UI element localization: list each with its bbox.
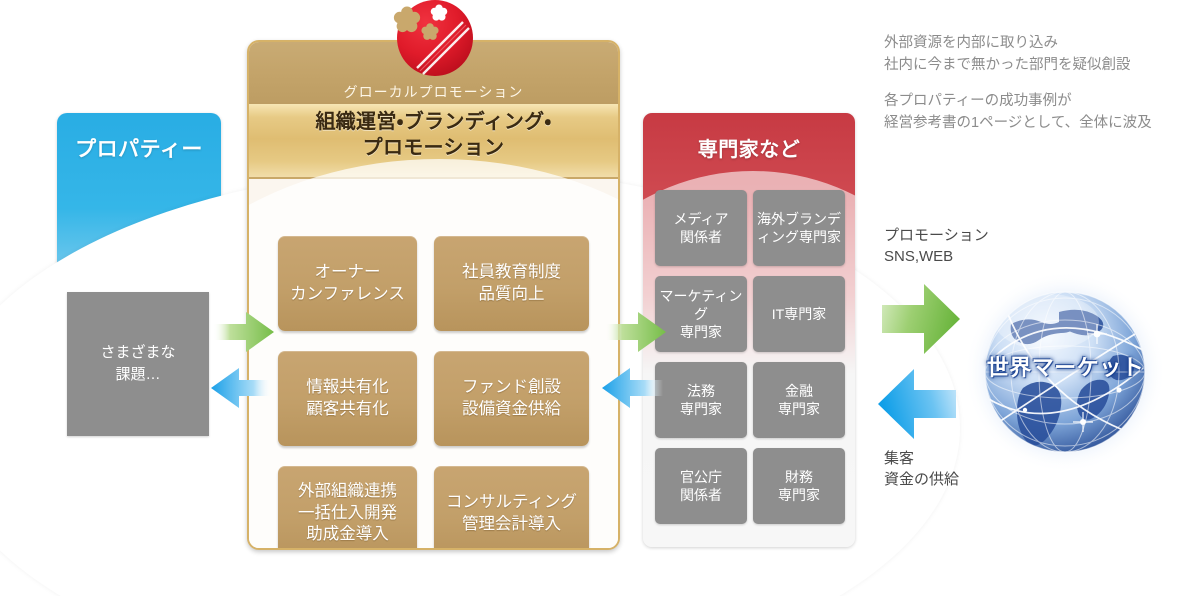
expert-box: IT専門家: [753, 276, 845, 352]
expert-line1: 財務: [778, 468, 820, 486]
expert-line2: 専門家: [657, 323, 745, 341]
expert-box: 官公庁 関係者: [655, 448, 747, 524]
initiative-line2: カンファレンス: [290, 284, 405, 306]
blue-left-arrow-center: [601, 366, 663, 410]
green-right-arrow-market: [880, 281, 962, 357]
expert-line1: 官公庁: [680, 468, 722, 486]
initiative-box: コンサルティング 管理会計導入: [434, 466, 589, 550]
initiative-line2: 一括仕入開発: [298, 503, 397, 525]
initiative-line1: 情報共有化: [306, 377, 389, 399]
expert-line2: 関係者: [680, 486, 722, 504]
annotation-top-line1: 外部資源を内部に取り込み: [884, 32, 1131, 54]
annotation-promotion-line2: SNS,WEB: [884, 246, 989, 267]
expert-box: 海外ブランデ ィング専門家: [753, 190, 845, 266]
experts-grid: メディア 関係者 海外ブランデ ィング専門家 マーケティング 専門家 IT専門家…: [655, 190, 845, 524]
center-panel-eyebrow: グローカルプロモーション: [249, 82, 618, 102]
initiative-line3: 助成金導入: [298, 524, 397, 546]
green-right-arrow-left: [213, 310, 275, 354]
center-panel-body: オーナー カンファレンス 社員教育制度 品質向上 情報共有化 顧客共有化 ファン…: [249, 179, 618, 548]
expert-line2: 専門家: [778, 400, 820, 418]
initiative-line1: オーナー: [290, 262, 405, 284]
initiative-line2: 管理会計導入: [446, 514, 577, 536]
initiative-line1: 外部組織連携: [298, 481, 397, 503]
annotation-second-line2: 経営参考書の1ページとして、全体に波及: [884, 112, 1152, 134]
expert-line2: 専門家: [778, 486, 820, 504]
expert-line2: 専門家: [680, 400, 722, 418]
expert-line2: ィング専門家: [757, 228, 841, 246]
initiative-line1: ファンド創設: [462, 377, 561, 399]
annotation-second-line1: 各プロパティーの成功事例が: [884, 90, 1152, 112]
expert-box: 法務 専門家: [655, 362, 747, 438]
annotation-top: 外部資源を内部に取り込み 社内に今まで無かった部門を疑似創設: [884, 32, 1131, 77]
various-issues-box: さまざまな 課題…: [67, 292, 209, 436]
initiative-box: 外部組織連携 一括仕入開発 助成金導入: [278, 466, 417, 550]
world-market-label: 世界マーケット: [963, 350, 1168, 382]
annotation-promotion: プロモーション SNS,WEB: [884, 225, 989, 268]
expert-box: 金融 専門家: [753, 362, 845, 438]
world-market-globe: 世界マーケット: [963, 272, 1168, 477]
expert-line1: 海外ブランデ: [757, 210, 841, 228]
initiative-box: オーナー カンファレンス: [278, 236, 417, 331]
annotation-inflow-line1: 集客: [884, 448, 959, 469]
various-issues-line2: 課題…: [100, 364, 175, 386]
annotation-second: 各プロパティーの成功事例が 経営参考書の1ページとして、全体に波及: [884, 90, 1152, 135]
initiative-line2: 品質向上: [462, 284, 561, 306]
initiative-line1: コンサルティング: [446, 492, 577, 514]
expert-line1: メディア: [673, 210, 728, 228]
expert-line1: 金融: [778, 382, 820, 400]
expert-line1: 法務: [680, 382, 722, 400]
initiative-line2: 顧客共有化: [306, 399, 389, 421]
annotation-inflow: 集客 資金の供給: [884, 448, 959, 491]
expert-line2: 関係者: [673, 228, 728, 246]
initiative-line2: 設備資金供給: [462, 399, 561, 421]
center-panel-title-line2: プロモーション: [249, 136, 618, 162]
expert-box: 財務 専門家: [753, 448, 845, 524]
experts-panel-title: 専門家など: [643, 133, 855, 162]
initiative-box: 情報共有化 顧客共有化: [278, 351, 417, 446]
annotation-promotion-line1: プロモーション: [884, 225, 989, 246]
center-panel-title-line1: 組織運営・ブランディング・: [249, 110, 618, 136]
sakura-seal-icon: [389, 0, 475, 84]
properties-panel-title: プロパティー: [57, 133, 221, 163]
green-right-arrow-center: [605, 310, 667, 354]
initiative-line1: 社員教育制度: [462, 262, 561, 284]
initiative-box: 社員教育制度 品質向上: [434, 236, 589, 331]
expert-line1: IT専門家: [772, 305, 826, 323]
experts-panel: 専門家など メディア 関係者 海外ブランデ ィング専門家 マーケティング 専門家…: [643, 113, 855, 547]
initiative-grid: オーナー カンファレンス 社員教育制度 品質向上 情報共有化 顧客共有化 ファン…: [278, 236, 589, 550]
diagram-canvas: プロパティー さまざまな 課題… グローカルプ: [0, 0, 1200, 596]
blue-left-arrow-left: [210, 366, 272, 410]
annotation-inflow-line2: 資金の供給: [884, 469, 959, 490]
expert-box: メディア 関係者: [655, 190, 747, 266]
expert-line1: マーケティング: [657, 287, 745, 323]
initiative-box: ファンド創設 設備資金供給: [434, 351, 589, 446]
center-panel-title: 組織運営・ブランディング・ プロモーション: [249, 110, 618, 161]
global-promotion-panel: グローカルプロモーション 組織運営・ブランディング・ プロモーション オーナー …: [247, 40, 620, 550]
blue-left-arrow-market: [876, 366, 958, 442]
annotation-top-line2: 社内に今まで無かった部門を疑似創設: [884, 54, 1131, 76]
expert-box: マーケティング 専門家: [655, 276, 747, 352]
various-issues-line1: さまざまな: [100, 342, 175, 364]
